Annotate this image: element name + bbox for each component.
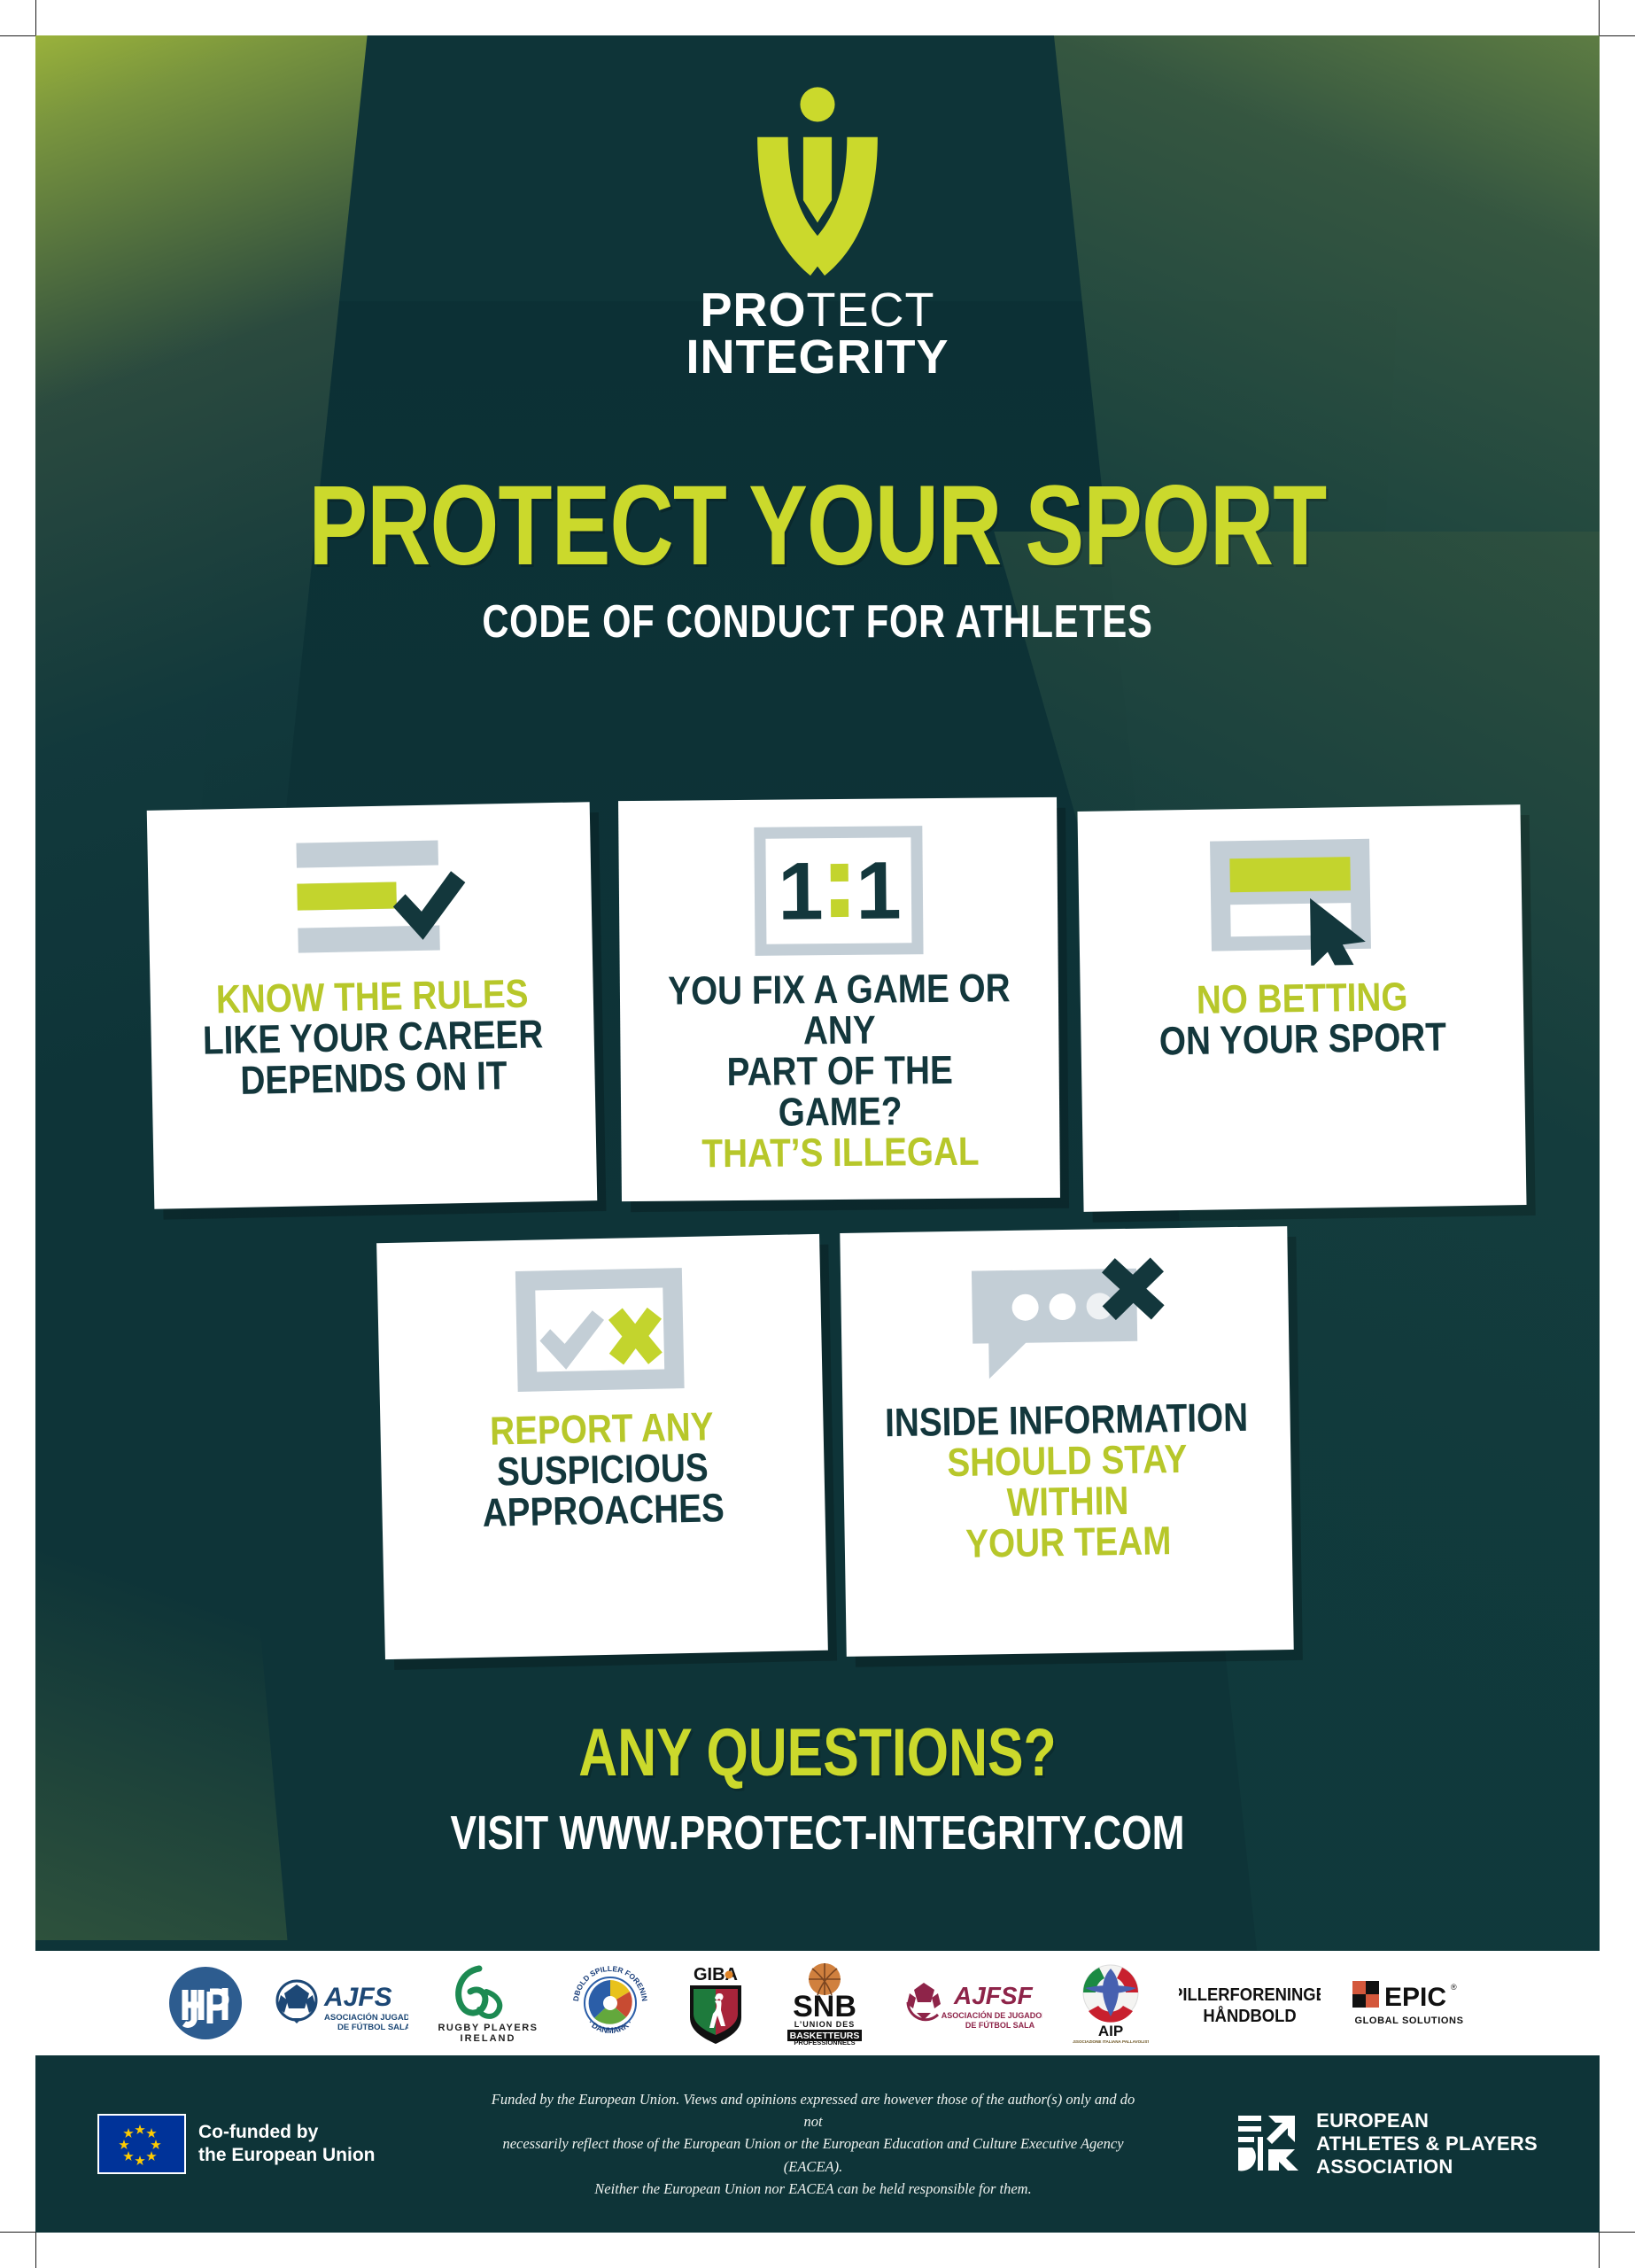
eapa-line1: EUROPEAN — [1316, 2109, 1538, 2132]
partner-logo-rugby-players-ireland: RUGBY PLAYERS IRELAND — [438, 1961, 538, 2046]
partner-logo-ajfsf: AJFSF ASOCIACIÓN DE JUGADORAS DE FÚTBOL … — [901, 1961, 1042, 2046]
svg-text:1: 1 — [855, 845, 901, 936]
check-cross-screen-icon — [510, 1262, 690, 1398]
card-line: SHOULD STAY WITHIN — [885, 1438, 1250, 1525]
brand-line1-bold: PRO — [700, 283, 806, 337]
svg-text:SNB: SNB — [793, 1990, 856, 2023]
page-title: PROTECT YOUR SPORT — [207, 470, 1427, 583]
eu-disclaimer: Funded by the European Union. Views and … — [469, 2088, 1157, 2199]
eapa-line3: ASSOCIATION — [1316, 2155, 1538, 2179]
partner-logo-snb: SNB L’UNION DES BASKETTEURS PROFESSIONNE… — [779, 1961, 871, 2046]
partner-logo-ajfs: AJFS ASOCIACIÓN JUGADORES DE FÚTBOL SALA — [274, 1961, 408, 2046]
eu-funding-line1: Co-funded by — [198, 2121, 376, 2144]
card-text: INSIDE INFORMATION SHOULD STAY WITHIN YO… — [855, 1396, 1280, 1565]
eu-funding-block: Co-funded by the European Union — [97, 2114, 469, 2174]
disclaimer-line1: Funded by the European Union. Views and … — [485, 2088, 1141, 2132]
brand-line1-light: TECT — [807, 283, 935, 337]
card-line: THAT’S ILLEGAL — [663, 1130, 1019, 1174]
betting-slip-cursor-icon — [1204, 831, 1396, 967]
protect-integrity-shield-icon — [716, 78, 919, 282]
partner-logo-spillerforeningen-handbold: SPILLERFORENINGEN HÅNDBOLD — [1179, 1961, 1321, 2046]
partner-logo-aip: AIP ASSOCIAZIONE ITALIANA PALLAVOLISTI — [1073, 1961, 1149, 2046]
rule-card-inside-information: INSIDE INFORMATION SHOULD STAY WITHIN YO… — [840, 1226, 1293, 1657]
card-text: REPORT ANY SUSPICIOUS APPROACHES — [461, 1406, 744, 1534]
card-line: PART OF THE GAME? — [662, 1049, 1018, 1133]
footer-bar: Co-funded by the European Union Funded b… — [35, 2055, 1600, 2233]
svg-text:AIP: AIP — [1098, 2023, 1123, 2039]
card-text: NO BETTING ON YOUR SPORT — [1135, 975, 1469, 1062]
eu-funding-line2: the European Union — [198, 2144, 376, 2167]
svg-text:ASOCIACIÓN JUGADORES: ASOCIACIÓN JUGADORES — [324, 2012, 408, 2023]
card-line: YOU FIX A GAME OR ANY — [661, 967, 1017, 1052]
rugby-players-ireland-logo-icon: RUGBY PLAYERS IRELAND — [438, 1963, 538, 2043]
page-subtitle: CODE OF CONDUCT FOR ATHLETES — [192, 595, 1444, 649]
eapa-block: EUROPEAN ATHLETES & PLAYERS ASSOCIATION — [1157, 2109, 1538, 2179]
rule-card-know-the-rules: KNOW THE RULES LIKE YOUR CAREER DEPENDS … — [147, 802, 598, 1209]
hsf-danmark-logo-icon: HÅNDBOLD SPILLER FORENINGEN · DANMARK · — [568, 1961, 653, 2046]
brand-line2: INTEGRITY — [35, 334, 1600, 381]
checklist-check-icon — [262, 829, 477, 967]
spillerforeningen-handbold-logo-icon: SPILLERFORENINGEN HÅNDBOLD — [1179, 1977, 1321, 2029]
card-text: YOU FIX A GAME OR ANY PART OF THE GAME? … — [632, 967, 1048, 1175]
eapa-wordmark: EUROPEAN ATHLETES & PLAYERS ASSOCIATION — [1316, 2109, 1538, 2179]
partner-logo-hjph — [167, 1961, 244, 2046]
cta-question: ANY QUESTIONS? — [192, 1714, 1444, 1791]
partner-logo-epic: EPIC ® GLOBAL SOLUTIONS — [1351, 1961, 1468, 2046]
svg-text:DE FÚTBOL SALA: DE FÚTBOL SALA — [965, 2020, 1035, 2030]
rule-card-match-fixing: 1 1 YOU FIX A GAME OR ANY PART OF THE GA… — [618, 797, 1060, 1201]
headline-block: PROTECT YOUR SPORT CODE OF CONDUCT FOR A… — [35, 470, 1600, 649]
eu-funding-text: Co-funded by the European Union — [198, 2121, 376, 2166]
scoreboard-1-1-icon: 1 1 — [754, 823, 923, 958]
poster-artwork: PROTECT INTEGRITY PROTECT YOUR SPORT COD… — [35, 35, 1600, 2233]
svg-text:AJFS: AJFS — [323, 1983, 392, 2012]
background-shape — [35, 1444, 287, 1940]
svg-text:ASSOCIAZIONE ITALIANA PALLAVOL: ASSOCIAZIONE ITALIANA PALLAVOLISTI — [1073, 2039, 1149, 2044]
brand-wordmark: PROTECT INTEGRITY — [35, 287, 1600, 381]
svg-text:DE FÚTBOL SALA: DE FÚTBOL SALA — [337, 2022, 408, 2032]
brand-block: PROTECT INTEGRITY — [35, 78, 1600, 381]
eapa-logo-icon — [1235, 2110, 1302, 2178]
svg-text:GLOBAL SOLUTIONS: GLOBAL SOLUTIONS — [1354, 2016, 1463, 2026]
partner-logo-giba: GIBA — [683, 1961, 748, 2046]
svg-text:1: 1 — [777, 846, 823, 936]
ajfs-logo-icon: AJFS ASOCIACIÓN JUGADORES DE FÚTBOL SALA — [274, 1969, 408, 2038]
cta-website[interactable]: VISIT WWW.PROTECT-INTEGRITY.COM — [176, 1806, 1459, 1860]
svg-text:ASOCIACIÓN DE JUGADORAS: ASOCIACIÓN DE JUGADORAS — [941, 2010, 1042, 2020]
eapa-line2: ATHLETES & PLAYERS — [1316, 2132, 1538, 2155]
card-line: DEPENDS ON IT — [203, 1054, 544, 1101]
rule-card-no-betting: NO BETTING ON YOUR SPORT — [1077, 804, 1526, 1212]
svg-text:PROFESSIONNELS: PROFESSIONNELS — [794, 2039, 855, 2045]
aip-logo-icon: AIP ASSOCIAZIONE ITALIANA PALLAVOLISTI — [1073, 1961, 1149, 2045]
svg-text:L’UNION DES: L’UNION DES — [794, 2020, 856, 2029]
disclaimer-line2: necessarily reflect those of the Europea… — [485, 2132, 1141, 2177]
svg-text:®: ® — [1451, 1983, 1457, 1992]
card-line: INSIDE INFORMATION — [885, 1397, 1249, 1443]
poster-page: PROTECT INTEGRITY PROTECT YOUR SPORT COD… — [0, 0, 1635, 2268]
svg-text:RUGBY PLAYERS: RUGBY PLAYERS — [438, 2023, 538, 2033]
card-line: APPROACHES — [482, 1487, 725, 1534]
svg-text:EPIC: EPIC — [1384, 1983, 1446, 2012]
rule-card-report-approaches: REPORT ANY SUSPICIOUS APPROACHES — [376, 1234, 828, 1659]
card-text: KNOW THE RULES LIKE YOUR CAREER DEPENDS … — [174, 973, 571, 1102]
partner-logo-handbold-spiller-foreningen: HÅNDBOLD SPILLER FORENINGEN · DANMARK · — [568, 1961, 653, 2046]
svg-text:SPILLERFORENINGEN: SPILLERFORENINGEN — [1179, 1985, 1321, 2005]
call-to-action: ANY QUESTIONS? VISIT WWW.PROTECT-INTEGRI… — [35, 1714, 1600, 1860]
disclaimer-line3: Neither the European Union nor EACEA can… — [485, 2178, 1141, 2200]
card-line: YOUR TEAM — [887, 1518, 1251, 1565]
giba-logo-icon: GIBA — [683, 1962, 748, 2044]
speech-bubble-blocked-icon — [965, 1253, 1166, 1389]
svg-text:AJFSF: AJFSF — [953, 1982, 1034, 2009]
svg-text:IRELAND: IRELAND — [461, 2033, 516, 2043]
hjph-logo-icon — [167, 1965, 244, 2041]
epic-global-solutions-logo-icon: EPIC ® GLOBAL SOLUTIONS — [1351, 1976, 1468, 2031]
partner-logo-strip: AJFS ASOCIACIÓN JUGADORES DE FÚTBOL SALA… — [35, 1951, 1600, 2055]
ajfsf-logo-icon: AJFSF ASOCIACIÓN DE JUGADORAS DE FÚTBOL … — [901, 1970, 1042, 2036]
svg-text:HÅNDBOLD: HÅNDBOLD — [1203, 2007, 1296, 2026]
card-line: ON YOUR SPORT — [1158, 1016, 1446, 1061]
snb-logo-icon: SNB L’UNION DES BASKETTEURS PROFESSIONNE… — [779, 1961, 871, 2045]
eu-flag-icon — [97, 2114, 186, 2174]
